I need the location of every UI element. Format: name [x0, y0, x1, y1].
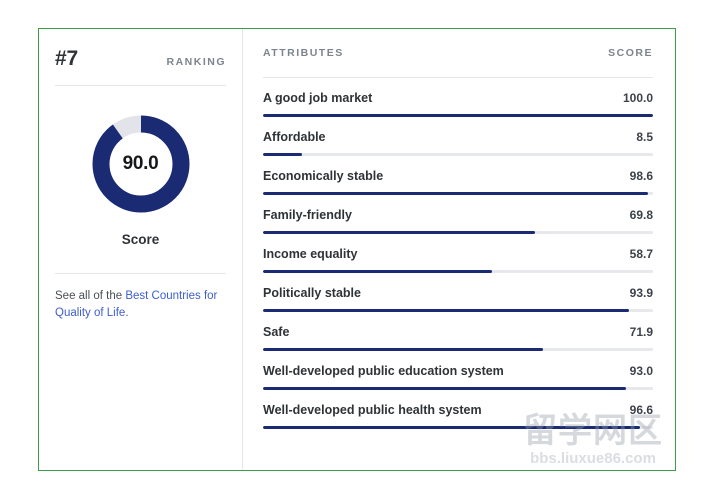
see-all-prefix: See all of the	[55, 290, 125, 302]
attribute-row: Well-developed public health system96.6	[263, 390, 653, 429]
attribute-row-header: Family-friendly69.8	[263, 208, 653, 222]
attribute-row-header: Economically stable98.6	[263, 169, 653, 183]
ranking-panel: #7 RANKING 90.0 Score See all of the Bes…	[39, 29, 243, 470]
see-all-text: See all of the Best Countries for Qualit…	[55, 288, 226, 322]
attribute-label: Economically stable	[263, 169, 383, 183]
ranking-label: RANKING	[167, 56, 227, 68]
attributes-header-row: ATTRIBUTES SCORE	[263, 47, 653, 78]
attribute-score-value: 93.0	[630, 364, 653, 378]
see-all-suffix: .	[125, 307, 128, 319]
left-panel-divider	[55, 273, 226, 274]
attribute-row-header: Safe71.9	[263, 325, 653, 339]
attribute-row: Income equality58.7	[263, 234, 653, 273]
ranking-header: #7 RANKING	[55, 47, 226, 86]
attribute-score-value: 71.9	[630, 325, 653, 339]
rank-number: #7	[55, 47, 78, 71]
attribute-row-header: Well-developed public health system96.6	[263, 403, 653, 417]
score-caption: Score	[122, 232, 160, 247]
attribute-score-bar-track	[263, 426, 653, 429]
attribute-score-value: 69.8	[630, 208, 653, 222]
donut-score-value: 90.0	[89, 112, 193, 216]
attributes-column-header: ATTRIBUTES	[263, 47, 344, 59]
attribute-row: Politically stable93.9	[263, 273, 653, 312]
attribute-score-value: 96.6	[630, 403, 653, 417]
attribute-label: A good job market	[263, 91, 372, 105]
score-column-header: SCORE	[608, 47, 653, 59]
attribute-row: Economically stable98.6	[263, 156, 653, 195]
attribute-score-value: 98.6	[630, 169, 653, 183]
attribute-row: Affordable8.5	[263, 117, 653, 156]
attribute-row-header: Affordable8.5	[263, 130, 653, 144]
attribute-label: Safe	[263, 325, 289, 339]
attribute-row-header: Income equality58.7	[263, 247, 653, 261]
attribute-row-header: A good job market100.0	[263, 91, 653, 105]
attribute-label: Income equality	[263, 247, 357, 261]
score-donut-chart: 90.0	[89, 112, 193, 216]
attribute-score-value: 93.9	[630, 286, 653, 300]
attributes-list: A good job market100.0Affordable8.5Econo…	[263, 78, 653, 429]
attribute-label: Affordable	[263, 130, 326, 144]
attribute-score-bar-fill	[263, 426, 640, 429]
attribute-label: Family-friendly	[263, 208, 352, 222]
attribute-score-value: 100.0	[623, 91, 653, 105]
attribute-score-value: 58.7	[630, 247, 653, 261]
attribute-label: Politically stable	[263, 286, 361, 300]
attribute-label: Well-developed public health system	[263, 403, 482, 417]
attribute-score-value: 8.5	[636, 130, 653, 144]
attribute-label: Well-developed public education system	[263, 364, 504, 378]
attribute-row-header: Politically stable93.9	[263, 286, 653, 300]
score-donut-container: 90.0 Score	[55, 112, 226, 247]
attributes-panel: ATTRIBUTES SCORE A good job market100.0A…	[243, 29, 675, 470]
country-score-card: #7 RANKING 90.0 Score See all of the Bes…	[38, 28, 676, 471]
attribute-row-header: Well-developed public education system93…	[263, 364, 653, 378]
attribute-row: Safe71.9	[263, 312, 653, 351]
attribute-row: Well-developed public education system93…	[263, 351, 653, 390]
attribute-row: A good job market100.0	[263, 78, 653, 117]
attribute-row: Family-friendly69.8	[263, 195, 653, 234]
